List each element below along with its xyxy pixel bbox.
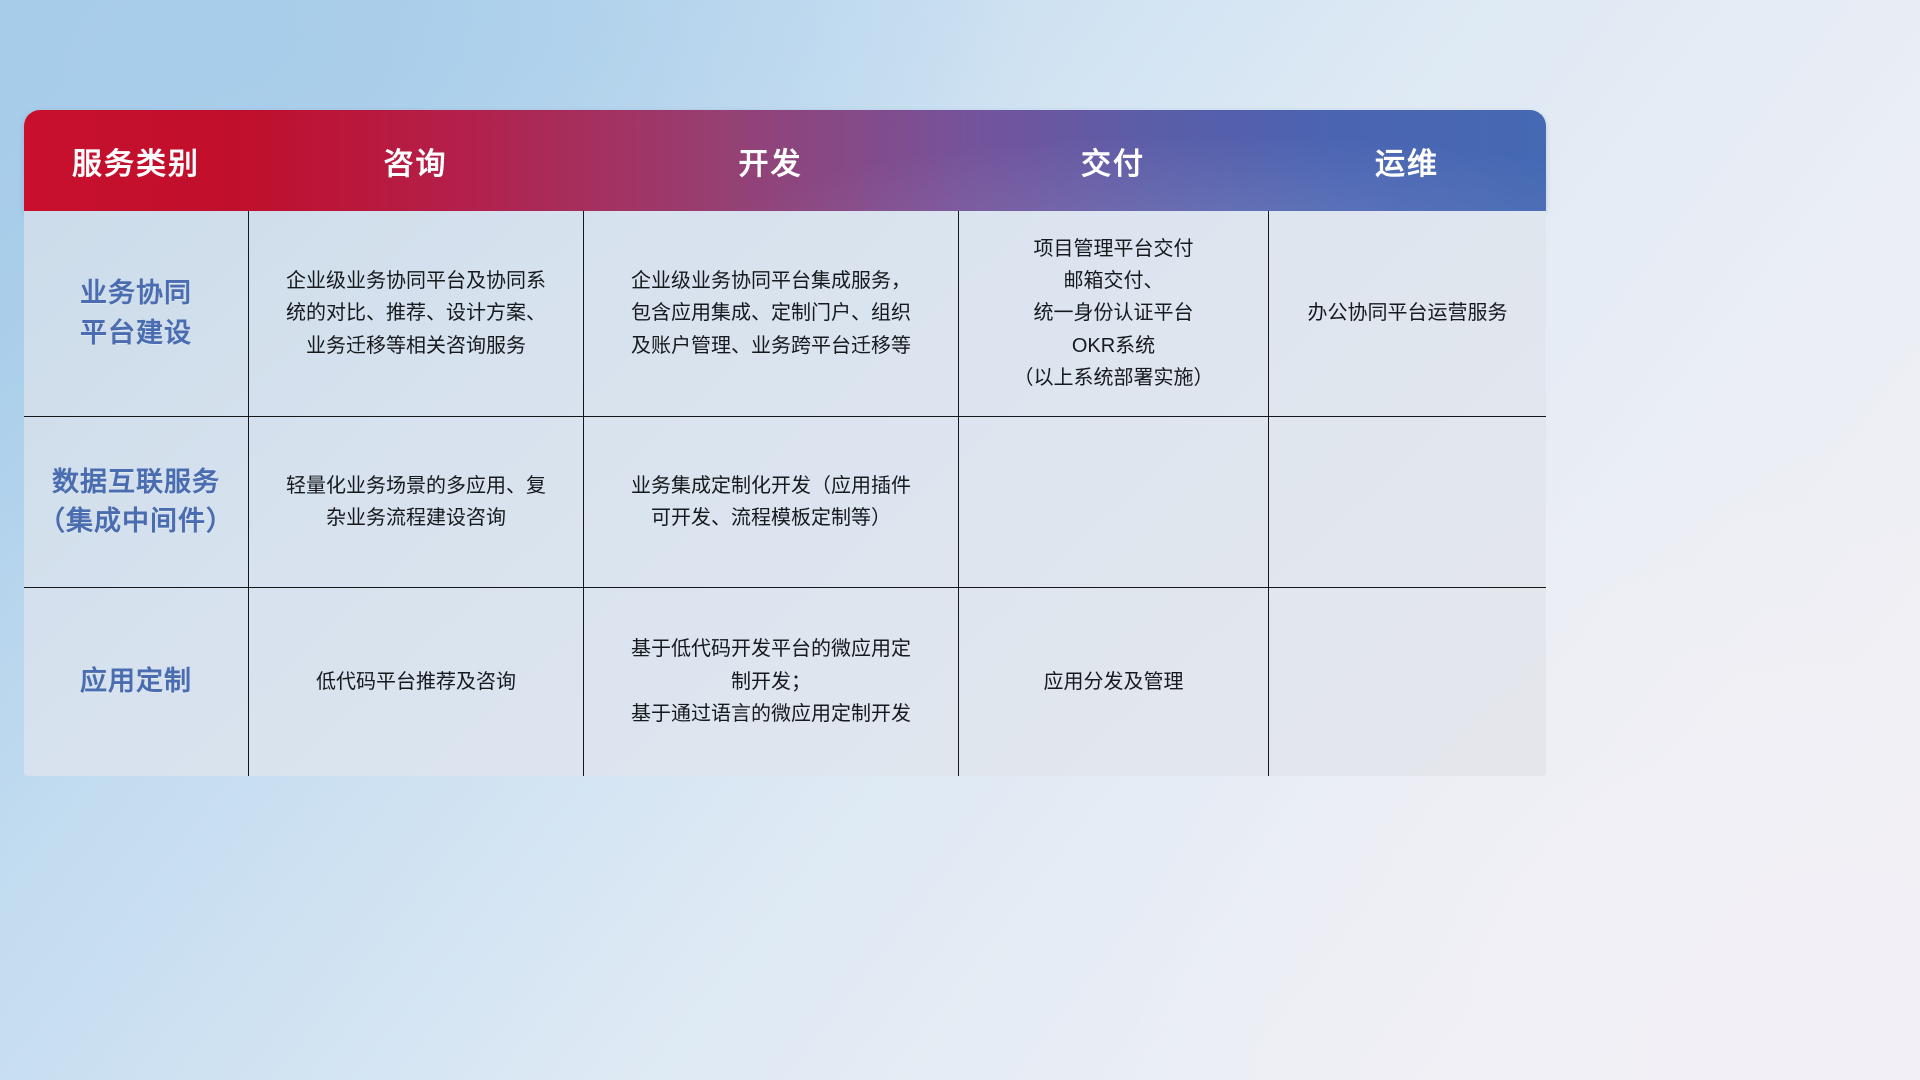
column-header-consulting: 咨询 bbox=[248, 110, 583, 211]
cell-delivery bbox=[958, 417, 1268, 587]
row-category-label: 业务协同 平台建设 bbox=[24, 211, 248, 416]
cell-operations bbox=[1268, 588, 1546, 776]
slide-canvas: 服务类别 咨询 开发 交付 运维 业务协同 平台建设 企业级业务协同平台及协同系… bbox=[0, 0, 1920, 1080]
cell-consulting: 轻量化业务场景的多应用、复 杂业务流程建设咨询 bbox=[248, 417, 583, 587]
cell-operations bbox=[1268, 417, 1546, 587]
column-header-category: 服务类别 bbox=[24, 110, 248, 211]
cell-operations: 办公协同平台运营服务 bbox=[1268, 211, 1546, 416]
table-row: 应用定制 低代码平台推荐及咨询 基于低代码开发平台的微应用定 制开发； 基于通过… bbox=[24, 587, 1546, 776]
cell-development: 业务集成定制化开发（应用插件 可开发、流程模板定制等） bbox=[583, 417, 958, 587]
column-header-delivery: 交付 bbox=[958, 110, 1268, 211]
row-category-label: 数据互联服务 （集成中间件） bbox=[24, 417, 248, 587]
row-category-label: 应用定制 bbox=[24, 588, 248, 776]
table-body: 业务协同 平台建设 企业级业务协同平台及协同系 统的对比、推荐、设计方案、 业务… bbox=[24, 211, 1546, 776]
table-header-row: 服务类别 咨询 开发 交付 运维 bbox=[24, 110, 1546, 211]
cell-consulting: 低代码平台推荐及咨询 bbox=[248, 588, 583, 776]
table-row: 业务协同 平台建设 企业级业务协同平台及协同系 统的对比、推荐、设计方案、 业务… bbox=[24, 211, 1546, 416]
cell-delivery: 项目管理平台交付 邮箱交付、 统一身份认证平台 OKR系统 （以上系统部署实施） bbox=[958, 211, 1268, 416]
column-header-operations: 运维 bbox=[1268, 110, 1546, 211]
cell-consulting: 企业级业务协同平台及协同系 统的对比、推荐、设计方案、 业务迁移等相关咨询服务 bbox=[248, 211, 583, 416]
column-header-development: 开发 bbox=[583, 110, 958, 211]
cell-development: 基于低代码开发平台的微应用定 制开发； 基于通过语言的微应用定制开发 bbox=[583, 588, 958, 776]
cell-development: 企业级业务协同平台集成服务， 包含应用集成、定制门户、组织 及账户管理、业务跨平… bbox=[583, 211, 958, 416]
table-row: 数据互联服务 （集成中间件） 轻量化业务场景的多应用、复 杂业务流程建设咨询 业… bbox=[24, 416, 1546, 587]
cell-delivery: 应用分发及管理 bbox=[958, 588, 1268, 776]
service-matrix-table: 服务类别 咨询 开发 交付 运维 业务协同 平台建设 企业级业务协同平台及协同系… bbox=[24, 110, 1546, 776]
